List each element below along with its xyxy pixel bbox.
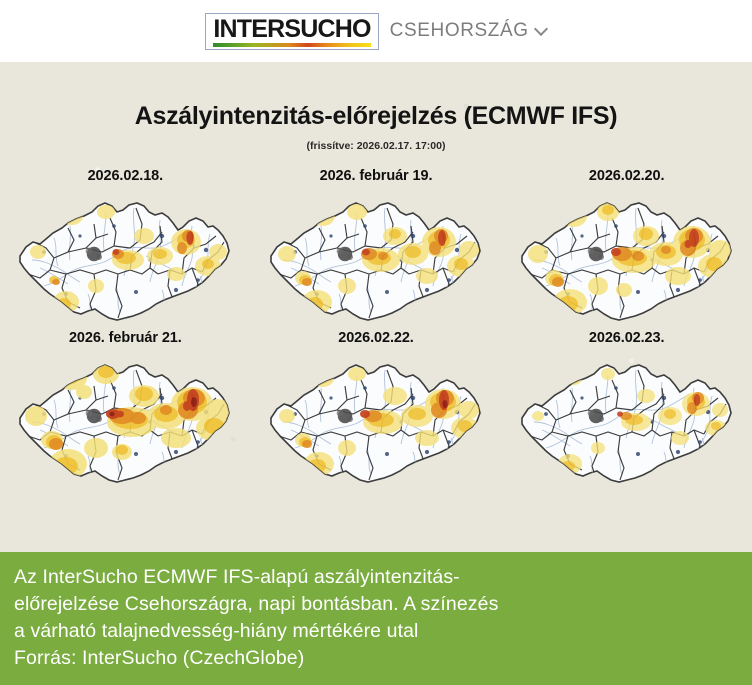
czech-map-5[interactable]: [261, 352, 491, 492]
czech-map-1[interactable]: [10, 190, 240, 330]
country-selector[interactable]: CSEHORSZÁG: [390, 20, 547, 42]
map-panel-1[interactable]: 2026.02.18.: [0, 168, 251, 330]
page-title: Aszályintenzitás-előrejelzés (ECMWF IFS): [0, 62, 752, 131]
map-panel-5[interactable]: 2026.02.22.: [251, 330, 502, 492]
forecast-poster: Aszályintenzitás-előrejelzés (ECMWF IFS)…: [0, 62, 752, 552]
czech-map-3[interactable]: [512, 190, 742, 330]
page-root: INTERSUCHO CSEHORSZÁG Aszályintenzitás-e…: [0, 0, 752, 685]
map-grid: 2026.02.18. 2026. február 19. 2026.02.20…: [0, 168, 752, 492]
updated-timestamp: (frissítve: 2026.02.17. 17:00): [0, 140, 752, 152]
caption-line-2: előrejelzése Csehországra, napi bontásba…: [14, 591, 738, 618]
map-panel-4[interactable]: 2026. február 21.: [0, 330, 251, 492]
logo-wordmark: INTERSUCHO: [213, 17, 370, 42]
map-date-label: 2026.02.18.: [88, 168, 164, 184]
country-label: CSEHORSZÁG: [390, 20, 529, 42]
map-panel-3[interactable]: 2026.02.20.: [501, 168, 752, 330]
site-header: INTERSUCHO CSEHORSZÁG: [0, 0, 752, 62]
logo-prefix: INTER: [213, 15, 284, 43]
caption-line-4: Forrás: InterSucho (CzechGlobe): [14, 645, 738, 672]
map-date-label: 2026. február 21.: [69, 330, 182, 346]
caption-bar: Az InterSucho ECMWF IFS-alapú aszályinte…: [0, 552, 752, 685]
map-date-label: 2026.02.20.: [589, 168, 665, 184]
czech-map-4[interactable]: [10, 352, 240, 492]
logo-suffix: SUCHO: [284, 15, 370, 43]
czech-map-svg: [512, 352, 742, 492]
czech-map-6[interactable]: [512, 352, 742, 492]
map-panel-2[interactable]: 2026. február 19.: [251, 168, 502, 330]
czech-map-svg: [261, 352, 491, 492]
chevron-down-icon[interactable]: [536, 24, 547, 35]
caption-line-1: Az InterSucho ECMWF IFS-alapú aszályinte…: [14, 564, 738, 591]
caption-line-3: a várható talajnedvesség-hiány mértékére…: [14, 618, 738, 645]
brand-block[interactable]: INTERSUCHO CSEHORSZÁG: [205, 13, 546, 50]
map-date-label: 2026.02.23.: [589, 330, 665, 346]
intersucho-logo[interactable]: INTERSUCHO: [205, 13, 378, 50]
czech-map-2[interactable]: [261, 190, 491, 330]
czech-map-svg: [10, 190, 240, 330]
czech-map-svg: [10, 352, 240, 492]
map-date-label: 2026. február 19.: [320, 168, 433, 184]
czech-map-svg: [261, 190, 491, 330]
logo-gradient-bar: [213, 43, 370, 47]
czech-map-svg: [512, 190, 742, 330]
map-panel-6[interactable]: 2026.02.23.: [501, 330, 752, 492]
map-date-label: 2026.02.22.: [338, 330, 414, 346]
